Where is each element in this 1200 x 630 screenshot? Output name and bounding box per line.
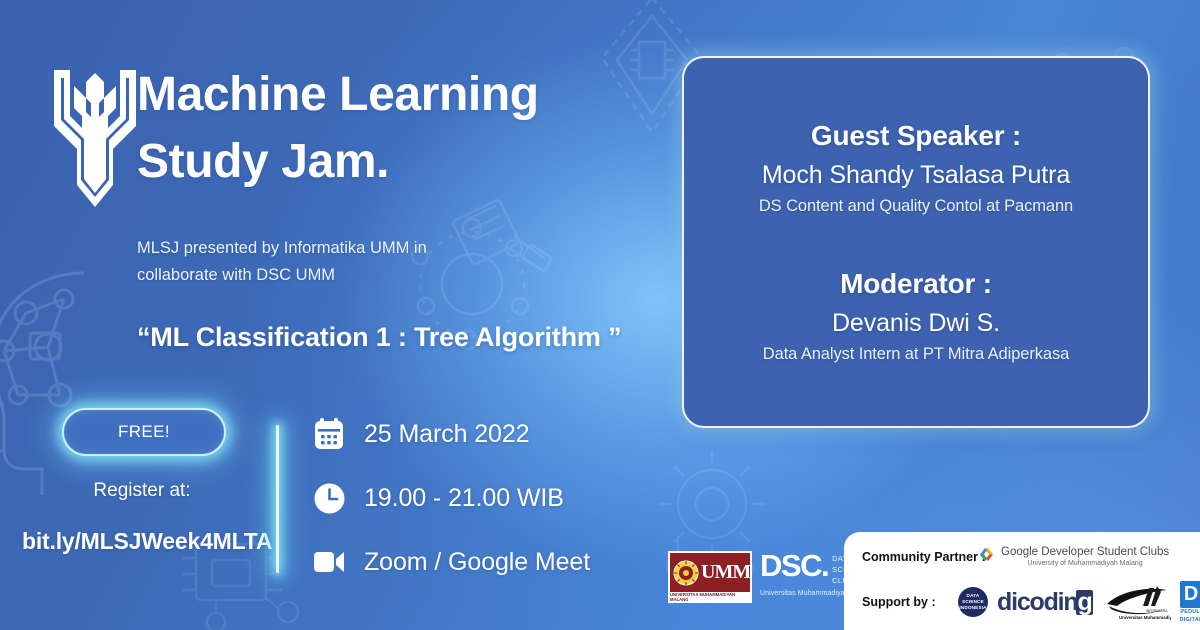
clock-icon: [312, 481, 346, 515]
detail-row-time: 19.00 - 21.00 WIB: [312, 469, 590, 527]
calendar-icon: [312, 417, 346, 451]
headline-line-1: Machine Learning: [137, 70, 567, 121]
mlsj-shield-logo-icon: [52, 66, 138, 214]
moderator-name: Devanis Dwi S.: [832, 309, 1000, 338]
support-by-label: Support by :: [862, 595, 958, 609]
event-details-list: 25 March 2022 19.00 - 21.00 WIB Zoom / G…: [312, 405, 590, 597]
poster-headline: Machine Learning Study Jam.: [137, 70, 567, 188]
support-logos: DATA SCIENCE INDONESIA dicoding INFORMAT…: [958, 581, 1200, 624]
peduli-line-1: PEDULI: [1180, 610, 1200, 616]
register-link[interactable]: bit.ly/MLSJWeek4MLTA: [22, 528, 262, 555]
detail-date-text: 25 March 2022: [364, 420, 529, 449]
ai-head-watermark-icon: [0, 255, 164, 505]
dicoding-last-letter: g: [1076, 590, 1092, 615]
detail-time-text: 19.00 - 21.00 WIB: [364, 484, 564, 513]
free-badge: FREE!: [62, 408, 226, 456]
informatika-umm-logo: INFORMATIKA Universitas Muhammadiyah Mal…: [1105, 582, 1171, 622]
umm-logo: UMM UNIVERSITAS MUHAMMADIYAH MALANG: [668, 551, 752, 603]
informatika-caption: Universitas Muhammadiyah Malang: [1119, 615, 1171, 620]
support-by-row: Support by : DATA SCIENCE INDONESIA dico…: [862, 578, 1190, 626]
umm-logo-caption: UNIVERSITAS MUHAMMADIYAH MALANG: [670, 592, 750, 601]
umm-logo-name: UMM: [701, 561, 750, 584]
free-badge-label: FREE!: [118, 422, 170, 442]
presented-by-text: MLSJ presented by Informatika UMM in col…: [137, 235, 437, 288]
dsi-line-3: INDONESIA: [959, 605, 986, 611]
gdsc-university: University of Muhammadiyah Malang: [1001, 560, 1169, 567]
gdsc-chevrons-icon: [978, 547, 995, 567]
dicoding-name: dicodin: [997, 588, 1077, 616]
guest-speaker-name: Moch Shandy Tsalasa Putra: [762, 161, 1070, 190]
detail-platform-text: Zoom / Google Meet: [364, 548, 590, 577]
guest-speaker-role: Guest Speaker :: [811, 120, 1021, 152]
svg-text:INFORMATIKA: INFORMATIKA: [1146, 609, 1168, 613]
gdsc-logo-text: Google Developer Student Clubs Universit…: [1001, 546, 1169, 567]
register-label: Register at:: [62, 480, 222, 502]
video-camera-icon: [312, 545, 346, 579]
peduli-line-2: DIGITAL: [1180, 618, 1200, 624]
headline-line-2: Study Jam.: [137, 137, 567, 188]
dsc-logo-mark: DSC.: [760, 552, 828, 580]
community-partner-row: Community Partner : Google Developer Stu…: [862, 536, 1190, 578]
data-science-indonesia-logo: DATA SCIENCE INDONESIA: [958, 587, 988, 617]
peduli-digital-logo: D PEDULI DIGITAL: [1180, 581, 1200, 624]
event-poster: Machine Learning Study Jam. MLSJ present…: [0, 0, 1200, 630]
partner-bar: Community Partner : Google Developer Stu…: [844, 532, 1200, 630]
speaker-moderator-card: Guest Speaker : Moch Shandy Tsalasa Putr…: [682, 56, 1150, 428]
vertical-divider: [276, 425, 279, 573]
umm-logo-top: UMM: [670, 553, 750, 592]
community-partner-logos: Google Developer Student Clubs Universit…: [978, 546, 1169, 567]
moderator-role: Moderator :: [840, 268, 992, 300]
dicoding-logo: dicoding: [997, 590, 1096, 615]
umm-emblem-icon: [673, 560, 699, 586]
detail-row-date: 25 March 2022: [312, 405, 590, 463]
community-partner-label: Community Partner :: [862, 550, 978, 564]
moderator-affiliation: Data Analyst Intern at PT Mitra Adiperka…: [763, 345, 1069, 364]
gdsc-logo: Google Developer Student Clubs Universit…: [978, 546, 1169, 567]
detail-row-platform: Zoom / Google Meet: [312, 533, 590, 591]
gdsc-name: Google Developer Student Clubs: [1001, 546, 1169, 558]
peduli-mark: D: [1180, 581, 1200, 608]
talk-title: “ML Classification 1 : Tree Algorithm ”: [137, 322, 607, 353]
guest-speaker-affiliation: DS Content and Quality Contol at Pacmann: [759, 197, 1073, 216]
